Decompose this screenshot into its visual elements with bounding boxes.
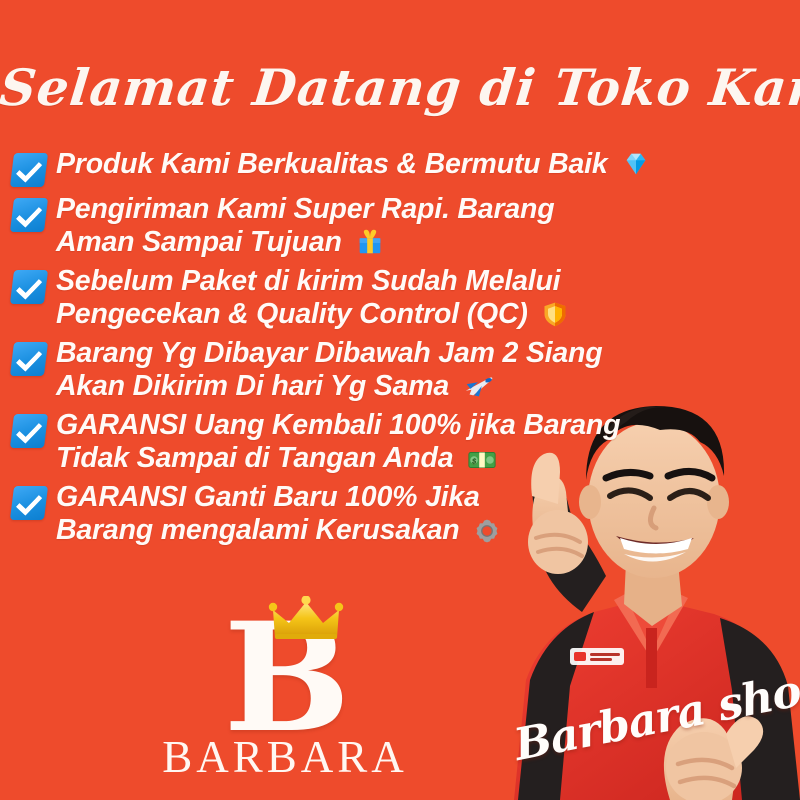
list-item-text: GARANSI Ganti Baru 100% Jika Barang meng… bbox=[56, 481, 501, 547]
white-check-mark-icon bbox=[10, 486, 48, 520]
gift-icon bbox=[355, 227, 385, 257]
banknote-icon: $ bbox=[467, 447, 497, 473]
gear-icon bbox=[473, 517, 501, 545]
white-check-mark-icon bbox=[10, 414, 48, 448]
list-item-line: Barang Yg Dibayar Dibawah Jam 2 Siang bbox=[56, 337, 602, 369]
list-item: GARANSI Ganti Baru 100% Jika Barang meng… bbox=[12, 481, 692, 547]
list-item-text: Pengiriman Kami Super Rapi. Barang Aman … bbox=[56, 193, 554, 259]
list-item-line: Aman Sampai Tujuan bbox=[56, 226, 342, 258]
white-check-mark-icon bbox=[10, 153, 48, 187]
crown-icon bbox=[192, 596, 420, 640]
white-check-mark-icon bbox=[10, 342, 48, 376]
list-item-text: GARANSI Uang Kembali 100% jika Barang Ti… bbox=[56, 409, 620, 475]
page-title: Selamat Datang di Toko Kami bbox=[0, 58, 800, 117]
list-item: GARANSI Uang Kembali 100% jika Barang Ti… bbox=[12, 409, 692, 475]
list-item: Pengiriman Kami Super Rapi. Barang Aman … bbox=[12, 193, 692, 259]
white-check-mark-icon bbox=[10, 198, 48, 232]
shield-icon bbox=[541, 299, 569, 329]
gem-stone-icon bbox=[621, 149, 651, 179]
promo-poster: Selamat Datang di Toko Kami bbox=[0, 0, 800, 800]
white-check-mark-icon bbox=[10, 270, 48, 304]
list-item: Sebelum Paket di kirim Sudah Melalui Pen… bbox=[12, 265, 692, 331]
list-item-line: Produk Kami Berkualitas & Bermutu Baik bbox=[56, 148, 607, 180]
list-item-line: GARANSI Uang Kembali 100% jika Barang bbox=[56, 409, 620, 441]
airplane-icon bbox=[463, 371, 493, 401]
list-item-text: Barang Yg Dibayar Dibawah Jam 2 Siang Ak… bbox=[56, 337, 602, 403]
list-item-line: Akan Dikirim Di hari Yg Sama bbox=[56, 370, 449, 402]
list-item-line: Pengiriman Kami Super Rapi. Barang bbox=[56, 193, 554, 225]
brand-name: BARBARA bbox=[150, 734, 420, 780]
list-item-line: Barang mengalami Kerusakan bbox=[56, 514, 459, 546]
brand-logo: B BARBARA bbox=[150, 596, 420, 780]
list-item-line: Pengecekan & Quality Control (QC) bbox=[56, 298, 528, 330]
list-item-line: Sebelum Paket di kirim Sudah Melalui bbox=[56, 265, 560, 297]
list-item: Barang Yg Dibayar Dibawah Jam 2 Siang Ak… bbox=[12, 337, 692, 403]
list-item-text: Produk Kami Berkualitas & Bermutu Baik bbox=[56, 148, 651, 181]
shop-signature: Barbara shop bbox=[510, 660, 800, 771]
list-item-line: GARANSI Ganti Baru 100% Jika bbox=[56, 481, 480, 513]
benefits-list: Produk Kami Berkualitas & Bermutu Baik P… bbox=[12, 148, 692, 553]
list-item-line: Tidak Sampai di Tangan Anda bbox=[56, 442, 453, 474]
list-item-text: Sebelum Paket di kirim Sudah Melalui Pen… bbox=[56, 265, 569, 331]
list-item: Produk Kami Berkualitas & Bermutu Baik bbox=[12, 148, 692, 187]
